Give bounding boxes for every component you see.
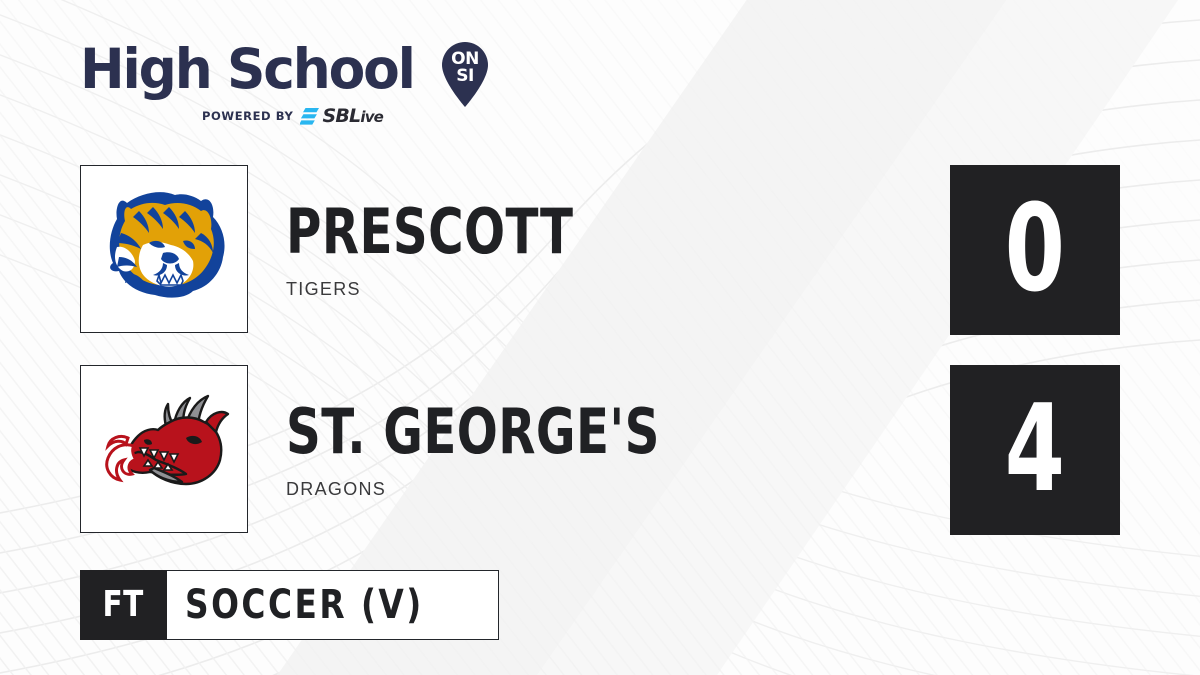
sblive-logo: SBLive: [300, 105, 383, 127]
brand-wordmark: High School: [80, 42, 414, 97]
team-mascot: TIGERS: [286, 279, 654, 300]
sblive-lower: ive: [360, 108, 383, 126]
sblive-upper: SBL: [322, 105, 360, 127]
team-row: ST. GEORGE'S DRAGONS 4: [0, 365, 1200, 535]
sblive-wordmark: SBLive: [322, 105, 383, 127]
brand-logo: High School ON SI POWERED BY SBLive: [80, 38, 510, 127]
team-score-box: 0: [950, 165, 1120, 335]
team-name: ST. GEORGE'S: [286, 401, 660, 463]
team-logo-box: [80, 365, 248, 533]
team-mascot: DRAGONS: [286, 479, 765, 500]
tiger-head-logo: [97, 187, 231, 311]
sport-label: SOCCER (V): [185, 585, 424, 625]
powered-by-row: POWERED BY SBLive: [202, 105, 510, 127]
scoreboard-graphic: High School ON SI POWERED BY SBLive: [0, 0, 1200, 675]
powered-by-label: POWERED BY: [202, 109, 293, 123]
status-period-label: FT: [103, 587, 144, 623]
status-badge: FT: [80, 570, 167, 640]
brand-logo-row: High School ON SI: [80, 38, 510, 100]
sblive-s-icon: [300, 107, 320, 126]
svg-text:SI: SI: [456, 66, 474, 86]
game-status-bar: FT SOCCER (V): [80, 570, 499, 640]
on-si-pin-icon: ON SI: [434, 36, 496, 108]
sport-label-box: SOCCER (V): [167, 570, 499, 640]
team-row: PRESCOTT TIGERS 0: [0, 165, 1200, 335]
team-score: 4: [1005, 390, 1065, 510]
team-score-box: 4: [950, 365, 1120, 535]
team-logo-box: [80, 165, 248, 333]
team-name: PRESCOTT: [286, 201, 573, 263]
dragon-head-logo: [94, 390, 234, 508]
team-info: PRESCOTT TIGERS: [286, 165, 654, 335]
team-score: 0: [1005, 190, 1065, 310]
team-info: ST. GEORGE'S DRAGONS: [286, 365, 765, 535]
